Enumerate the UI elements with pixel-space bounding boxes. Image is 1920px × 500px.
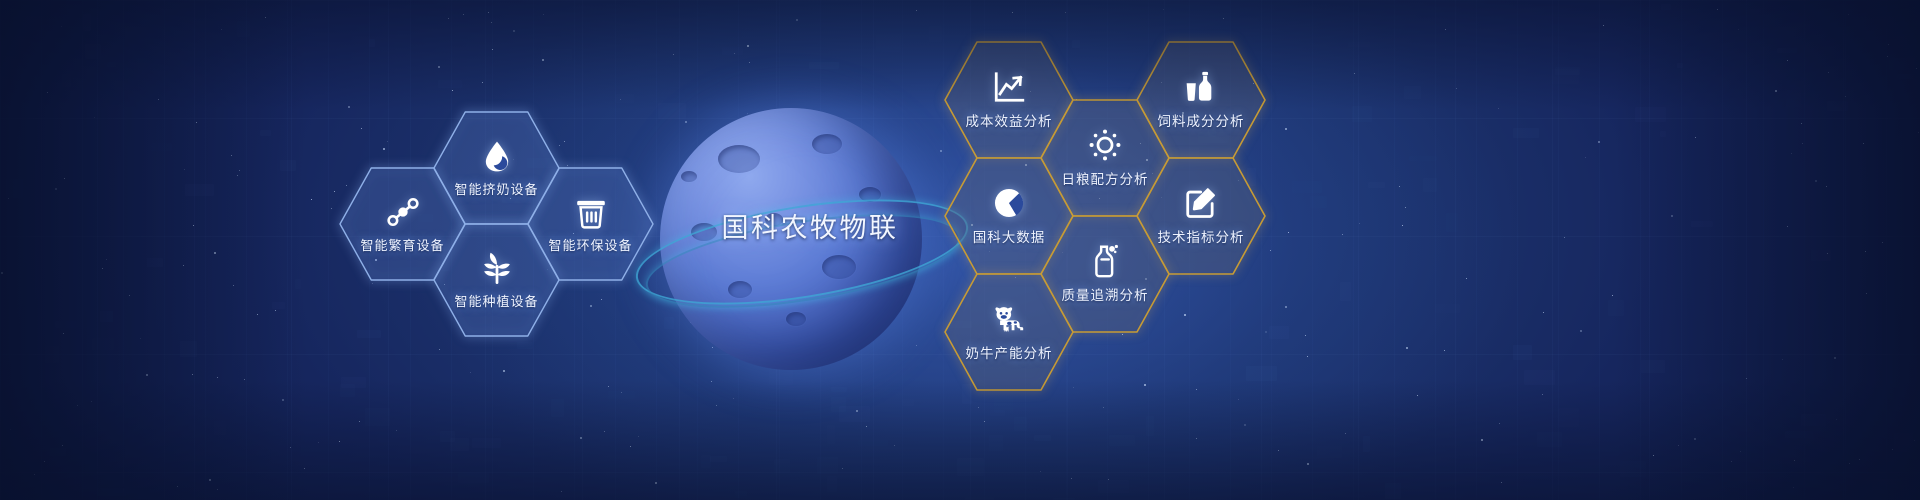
hex-label: 国科大数据 <box>973 226 1046 246</box>
hex-label: 奶牛产能分析 <box>966 342 1053 362</box>
hex-label: 日粮配方分析 <box>1062 168 1149 188</box>
hex-label: 饲料成分分析 <box>1158 110 1245 130</box>
network-node-icon <box>386 195 420 229</box>
pie-chart-icon <box>992 186 1026 220</box>
hex-label: 智能繁育设备 <box>360 235 444 254</box>
hex-label: 智能挤奶设备 <box>454 179 538 198</box>
milk-bottle-icon <box>1088 244 1122 278</box>
recycle-bin-icon <box>574 195 608 229</box>
hex-label: 智能环保设备 <box>548 235 632 254</box>
center-planet-group: 国科农牧物联 <box>640 88 980 418</box>
milk-bottle-glass-icon <box>1184 70 1218 104</box>
hex-label: 智能种植设备 <box>454 291 538 310</box>
hex-label: 成本效益分析 <box>966 110 1053 130</box>
banner-stage: 国科农牧物联 智能繁育设备智能挤奶设备智能种植设备智能环保设备 成本效益分析饲料… <box>0 0 1920 500</box>
dairy-cow-icon <box>992 302 1026 336</box>
edit-square-icon <box>1184 186 1218 220</box>
water-drop-icon <box>480 139 514 173</box>
page-title: 国科农牧物联 <box>640 206 980 245</box>
sun-icon <box>1088 128 1122 162</box>
hex-label: 技术指标分析 <box>1158 226 1245 246</box>
plant-leaf-icon <box>480 251 514 285</box>
line-chart-icon <box>992 70 1026 104</box>
hex-label: 质量追溯分析 <box>1062 284 1149 304</box>
